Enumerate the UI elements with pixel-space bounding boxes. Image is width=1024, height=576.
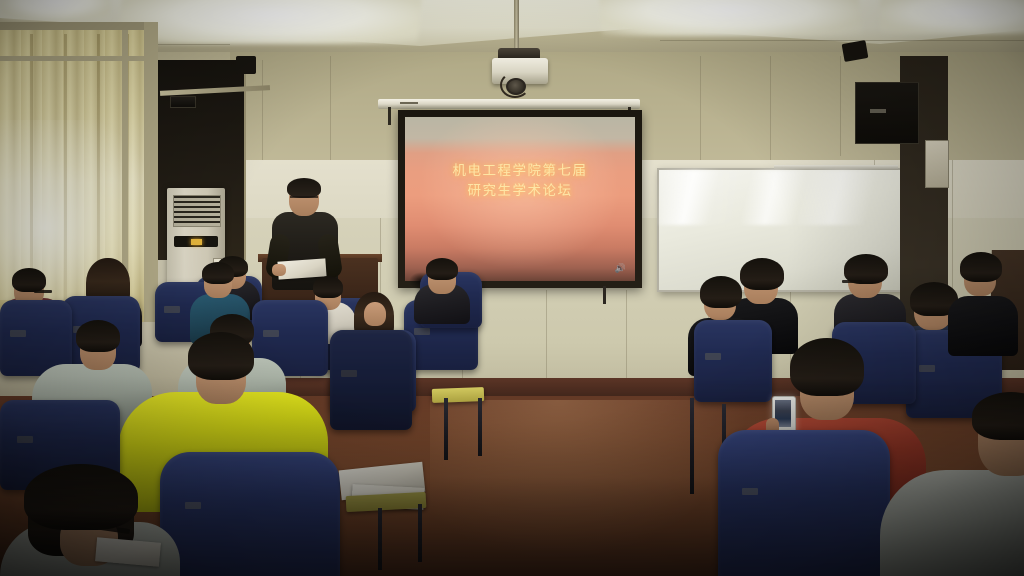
writing-tablet[interactable] (432, 387, 484, 403)
ceiling-light (598, 0, 862, 36)
person-hair (426, 258, 458, 280)
chair[interactable] (718, 430, 890, 576)
person-hair (790, 338, 864, 396)
speaker-icon: 🔊 (615, 263, 626, 274)
chair-leg (418, 504, 422, 562)
wall-panel-seam (626, 290, 627, 382)
whiteboard-plastic-sheen (659, 170, 902, 225)
screen-pull-cord[interactable] (603, 286, 606, 304)
projected-slide: 机电工程学院第七届 研究生学术论坛 🔊 (405, 117, 635, 281)
list-item (948, 250, 1018, 350)
window-mullion (144, 22, 158, 322)
projector-lens-icon (506, 78, 526, 95)
wall-notice (925, 140, 949, 188)
student-grey-hoodie-foreground (880, 392, 1024, 576)
wall-panel-seam (330, 56, 331, 160)
slide-title-line1: 机电工程学院第七届 (405, 161, 635, 181)
chair-leg (690, 398, 694, 494)
person-hair (313, 276, 343, 298)
screen-support-arm (388, 107, 391, 125)
ac-indicator-led (191, 239, 202, 245)
ceiling-light (880, 0, 1024, 34)
speaker-icon (170, 96, 196, 108)
person-torso (948, 296, 1018, 356)
person-hair (960, 252, 1002, 282)
presenter-hair (287, 178, 321, 198)
ceiling-light (117, 0, 423, 44)
person-hair (76, 320, 120, 352)
chair-leg (444, 398, 448, 460)
projection-screen-housing[interactable] (378, 99, 640, 109)
ac-display-panel[interactable] (174, 236, 218, 247)
curtain-fold (64, 34, 67, 320)
person-hair (188, 332, 254, 380)
wall-panel-seam (700, 56, 701, 160)
chair-leg (478, 398, 482, 456)
speaker-icon (855, 82, 919, 144)
person-hair (24, 464, 138, 530)
chair[interactable] (160, 452, 340, 576)
glasses-icon (842, 280, 862, 283)
ceiling-light (0, 0, 110, 20)
speaker-icon (236, 56, 256, 74)
lecture-hall-photo: 机电工程学院第七届 研究生学术论坛 🔊 (0, 0, 1024, 576)
presenter-hand (272, 264, 286, 276)
glasses-icon (34, 290, 52, 293)
chair[interactable] (330, 330, 412, 430)
person-head (364, 302, 386, 326)
wall-panel-seam (262, 60, 263, 160)
ac-vent-louvers (173, 195, 221, 227)
slide-title-text: 机电工程学院第七届 研究生学术论坛 (405, 161, 635, 201)
wall-panel-seam (770, 56, 771, 160)
person-hair (202, 262, 234, 284)
person-hair (700, 276, 742, 308)
person-hair (972, 392, 1024, 440)
chair-leg (378, 508, 382, 570)
person-hair (12, 268, 46, 292)
ceiling-panel-seam (660, 40, 1024, 41)
wall-panel-seam (840, 56, 841, 156)
list-item (414, 258, 470, 322)
glasses-icon (290, 196, 318, 204)
wall-panel-seam (546, 290, 547, 382)
person-torso (880, 470, 1024, 576)
slide-title-line2: 研究生学术论坛 (405, 181, 635, 201)
